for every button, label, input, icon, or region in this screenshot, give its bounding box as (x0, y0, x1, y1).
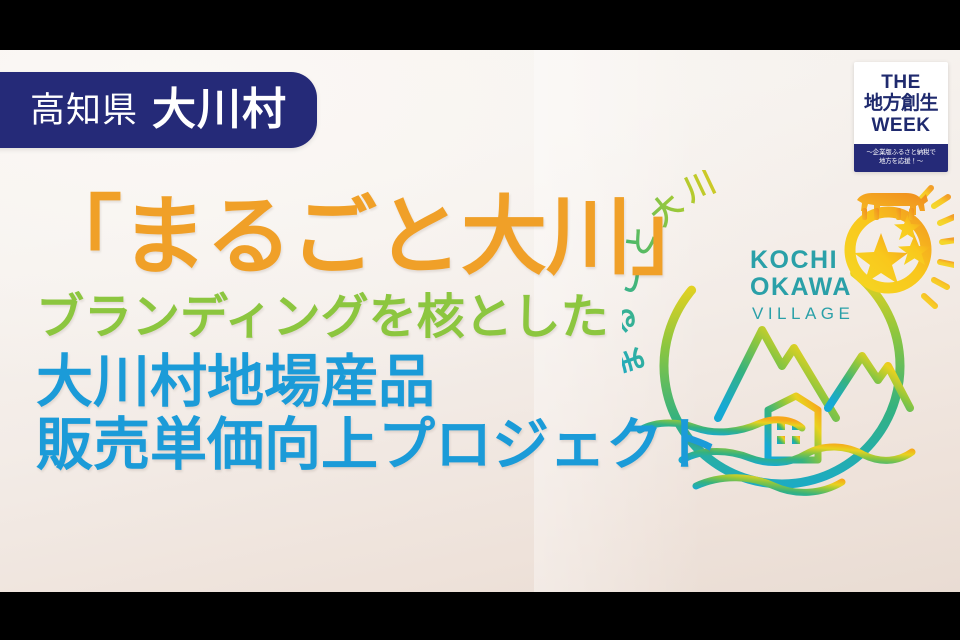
logo-wordmark-okawa: OKAWA (750, 273, 852, 301)
project-body-line1: 大川村地場産品 (36, 354, 720, 411)
project-title: 「まるごと大川」 (36, 194, 720, 280)
logo-wordmark-village: VILLAGE (752, 304, 854, 323)
letterbox-top (0, 0, 960, 50)
logo-wordmark: KOCHI OKAWA VILLAGE (750, 246, 854, 323)
prefecture-label: 高知県 (30, 93, 138, 128)
logo-wordmark-kochi: KOCHI (750, 246, 838, 274)
event-badge-footer-line1: ～企業版ふるさと納税で (856, 148, 946, 157)
headline-block: 「まるごと大川」 ブランディングを核とした 大川村地場産品 販売単価向上プロジェ… (36, 194, 720, 474)
event-badge: THE 地方創生 WEEK ～企業版ふるさと納税で 地方を応援！～ (854, 62, 948, 172)
event-badge-line-the: THE (858, 72, 944, 93)
sun-ring-icon (850, 212, 931, 288)
event-badge-line-week: WEEK (858, 115, 944, 136)
location-banner: 高知県 大川村 (0, 72, 317, 148)
village-label: 大川村 (152, 88, 287, 132)
project-subtitle: ブランディングを核とした (36, 294, 720, 342)
project-body-line2: 販売単価向上プロジェクト (36, 417, 720, 474)
slide-stage: 高知県 大川村 THE 地方創生 WEEK ～企業版ふるさと納税で 地方を応援！… (0, 50, 960, 592)
event-badge-line-jp: 地方創生 (858, 93, 944, 114)
event-badge-footer-line2: 地方を応援！～ (856, 157, 946, 166)
presentation-slide: 高知県 大川村 THE 地方創生 WEEK ～企業版ふるさと納税で 地方を応援！… (0, 0, 960, 640)
event-badge-body: THE 地方創生 WEEK (854, 62, 948, 144)
event-badge-footer: ～企業版ふるさと納税で 地方を応援！～ (854, 144, 948, 172)
letterbox-bottom (0, 592, 960, 640)
